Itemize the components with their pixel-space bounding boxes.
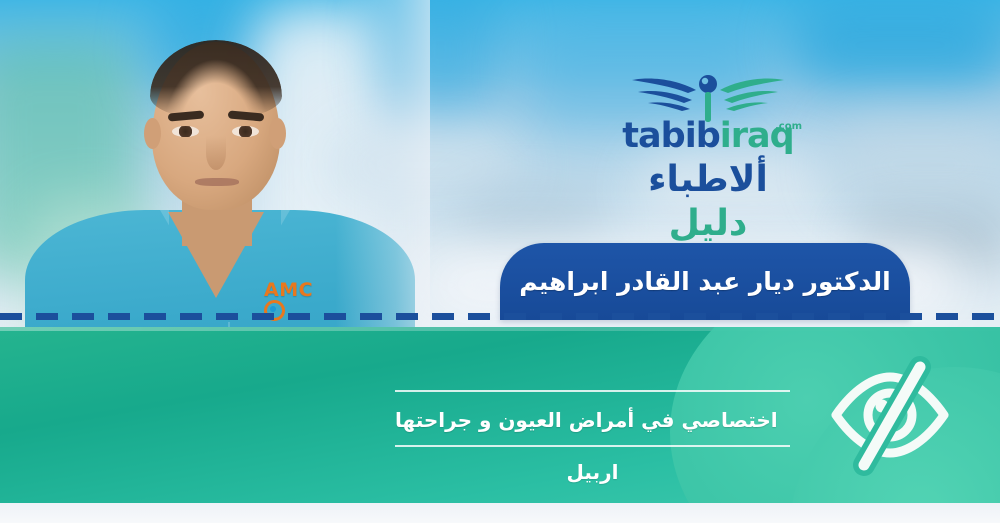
info-band: اختصاصي في أمراض العيون و جراحتها اربيل	[0, 327, 1000, 503]
nose	[206, 136, 226, 170]
brand-tagline: ألاطباء دليل	[608, 158, 808, 246]
mouth	[195, 178, 239, 186]
brand-logo[interactable]: tabibiraq .com ألاطباء دليل	[608, 68, 808, 198]
doctor-name: الدكتور ديار عبد القادر ابراهيم	[519, 268, 891, 296]
bottom-strip	[0, 503, 1000, 523]
brand-wordmark-tabib: tabib	[622, 116, 719, 156]
specialty-rule-top	[395, 390, 790, 392]
doctor-city: اربيل	[395, 455, 790, 489]
doctor-profile-card: AMC AL MUSTAFA CENTER	[0, 0, 1000, 523]
eye-right	[232, 126, 259, 137]
amc-logo-text: AMC	[264, 279, 313, 301]
brand-wordmark: tabibiraq .com	[608, 118, 808, 154]
brand-tagline-alatibaa: ألاطباء	[648, 159, 768, 200]
brand-tld: .com	[775, 109, 802, 145]
brand-tagline-dalil: دليل	[669, 203, 748, 244]
doctor-name-banner: الدكتور ديار عبد القادر ابراهيم	[500, 243, 910, 320]
specialty-rule-bottom	[395, 445, 790, 447]
amc-logo: AMC AL MUSTAFA CENTER	[264, 281, 328, 309]
dashed-divider	[0, 313, 1000, 320]
eye-off-icon	[824, 349, 956, 481]
eye-left	[172, 126, 199, 137]
ear-left	[144, 118, 161, 149]
hair	[150, 40, 282, 118]
ear-right	[269, 118, 286, 149]
doctor-specialty: اختصاصي في أمراض العيون و جراحتها	[395, 400, 790, 440]
